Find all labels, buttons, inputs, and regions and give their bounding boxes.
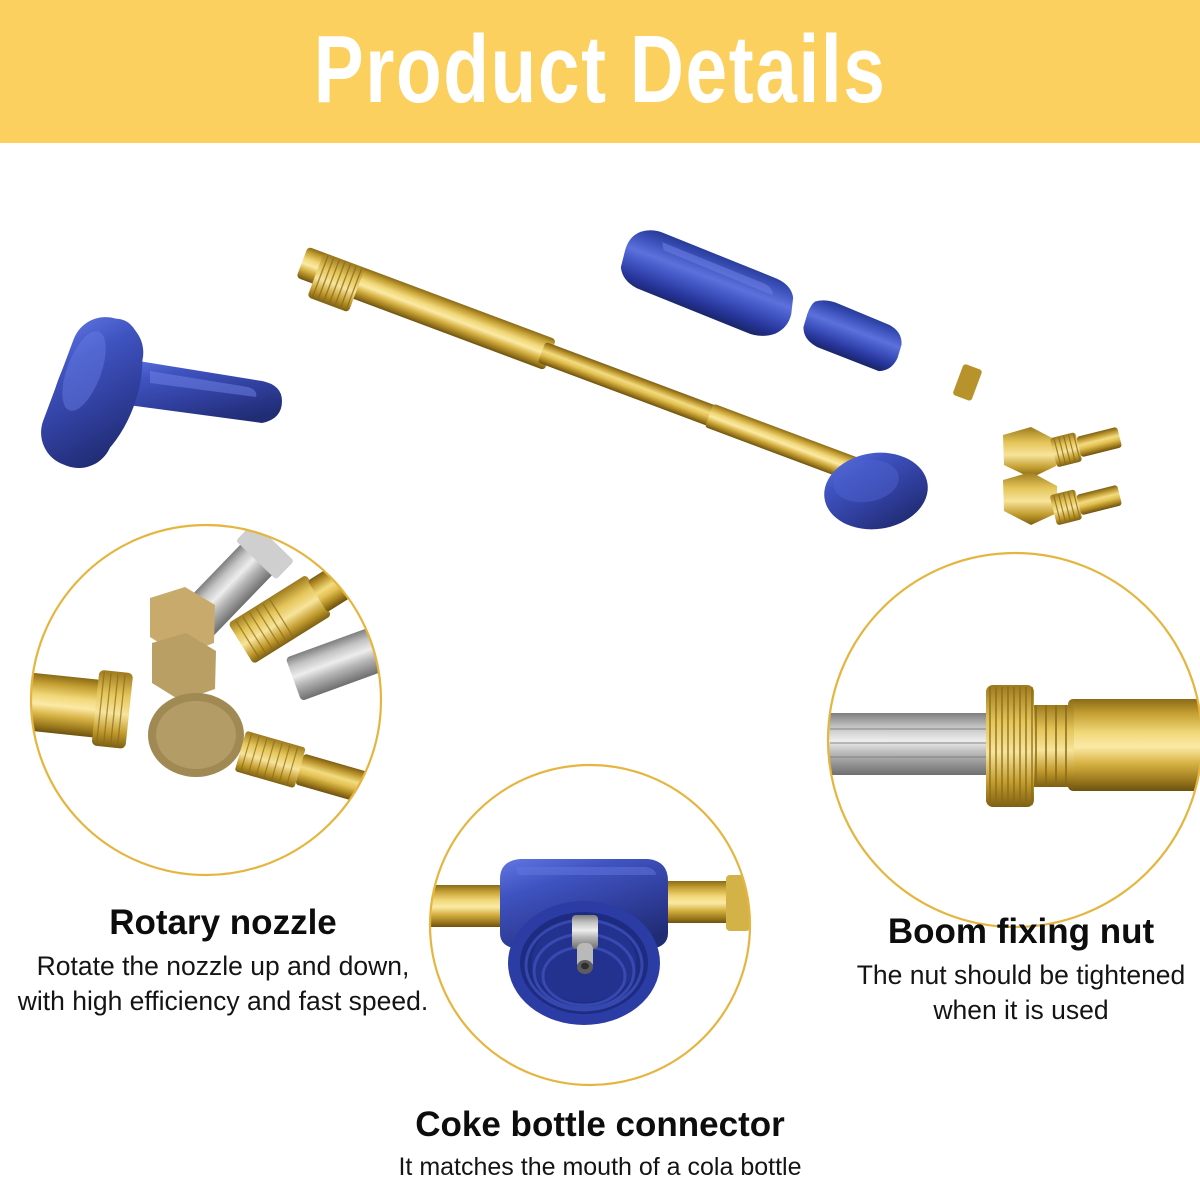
artwork-stage [0,143,1200,1200]
caption-title-rotary-nozzle: Rotary nozzle [8,903,438,942]
page-title: Product Details [314,22,887,118]
caption-title-boom-fixing-nut: Boom fixing nut [845,912,1197,951]
blue-rubber-grip [613,222,803,345]
caption-boom-fixing-nut: Boom fixing nut The nut should be tighte… [845,912,1197,1027]
caption-line: with high efficiency and fast speed. [8,984,438,1018]
nozzle-tip-upper [1050,422,1123,468]
inset-coke-bottle-connector [420,763,752,1087]
caption-coke-bottle-connector: Coke bottle connector It matches the mou… [340,1105,860,1184]
caption-line: The nut should be tightened [845,958,1197,992]
caption-line: when it is used [845,993,1197,1027]
nozzle-tip-lower [1050,479,1123,526]
nozzle-hex-lower [1003,472,1057,525]
blue-sleeve-lower [797,295,908,376]
inset-rotary-nozzle [6,522,405,878]
caption-line: Rotate the nozzle up and down, [8,949,438,983]
t-handle [31,306,282,480]
caption-description-coke-bottle-connector: It matches the mouth of a cola bottle [340,1151,860,1184]
brass-rod-lower [538,342,733,433]
caption-title-coke-bottle-connector: Coke bottle connector [340,1105,860,1144]
caption-description-boom-fixing-nut: The nut should be tightened when it is u… [845,958,1197,1027]
nozzle-hex-upper [1003,427,1056,478]
hero-product-photo [31,222,1123,535]
dual-brass-nozzle-heads [952,363,1123,525]
product-illustrations [0,143,1200,1200]
inset-boom-fixing-nut [820,551,1200,929]
caption-line: It matches the mouth of a cola bottle [340,1151,860,1184]
page-header-banner: Product Details [0,0,1200,143]
product-details-page: Product Details [0,0,1200,1200]
fixing-nut-body [986,685,1034,807]
caption-rotary-nozzle: Rotary nozzle Rotate the nozzle up and d… [8,903,438,1018]
caption-description-rotary-nozzle: Rotate the nozzle up and down, with high… [8,949,438,1018]
